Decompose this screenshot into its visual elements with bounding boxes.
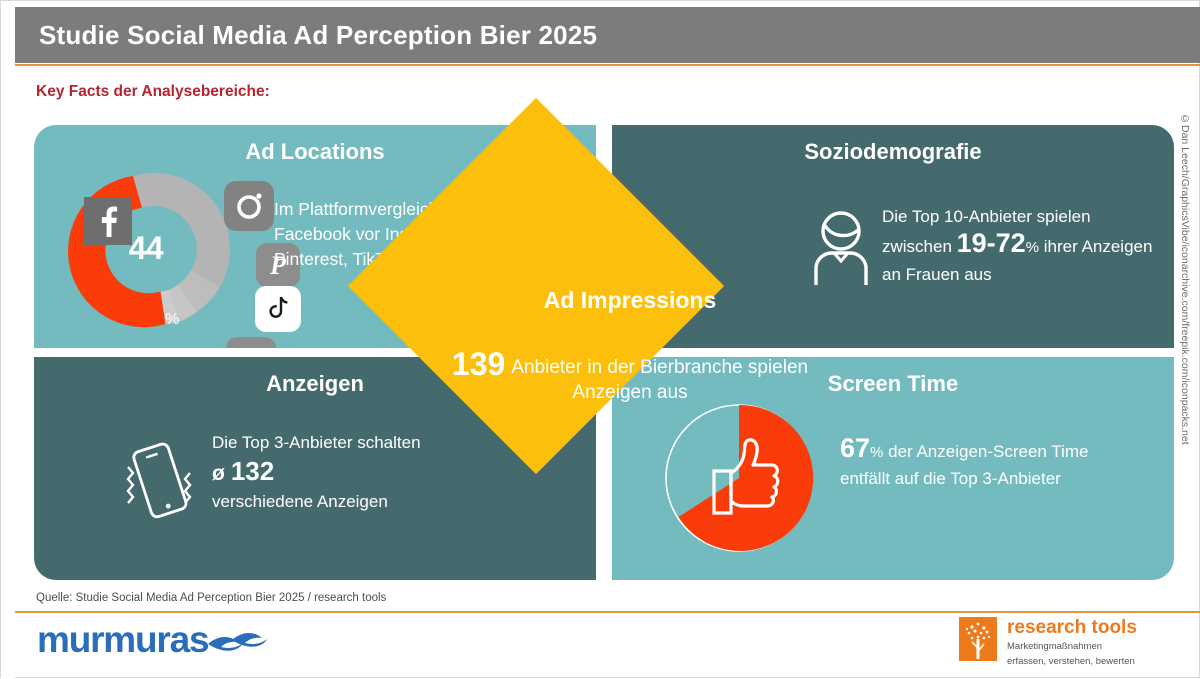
soziodemografie-description: Die Top 10-Anbieter spielen zwischen 19-… xyxy=(882,203,1162,288)
person-icon xyxy=(810,207,872,292)
panel-screen-time[interactable]: Screen Time 67% der Anzeigen-Screen Time… xyxy=(612,357,1174,580)
research-tools-text: research tools Marketingmaßnahmen erfass… xyxy=(1007,617,1137,668)
source-note: Quelle: Studie Social Media Ad Perceptio… xyxy=(36,592,386,604)
murmuras-wordmark: murmuras xyxy=(37,619,208,661)
sozio-highlight: 19-72 xyxy=(957,228,1026,258)
research-tools-tagline-2: erfassen, verstehen, bewerten xyxy=(1007,656,1137,668)
screen-time-unit: % xyxy=(870,444,883,461)
section-subtitle: Key Facts der Analysebereiche: xyxy=(36,83,270,101)
youtube-icon xyxy=(226,337,276,348)
murmuras-birds-icon xyxy=(206,626,276,660)
donut-center-label: 44 % xyxy=(56,161,252,336)
anzeigen-value: 132 xyxy=(231,456,274,486)
anzeigen-average: ø132 xyxy=(212,457,512,488)
panel-soziodemografie[interactable]: Soziodemografie Die Top 10-Anbieter spie… xyxy=(612,125,1174,348)
infographic-page: Studie Social Media Ad Perception Bier 2… xyxy=(0,0,1200,678)
footer-divider xyxy=(15,611,1200,613)
donut-unit: % xyxy=(165,311,179,329)
research-tools-tree-icon xyxy=(959,617,997,661)
vibrating-phone-icon xyxy=(112,435,204,532)
panel-title-soziodemografie: Soziodemografie xyxy=(612,139,1174,165)
panel-grid: Ad Locations 44 xyxy=(34,125,1174,580)
facebook-icon xyxy=(84,197,132,245)
average-symbol: ø xyxy=(212,462,225,485)
instagram-icon xyxy=(224,181,274,231)
screen-time-description: 67% der Anzeigen-Screen Time entfällt au… xyxy=(840,435,1140,492)
page-title: Studie Social Media Ad Perception Bier 2… xyxy=(39,20,597,51)
sozio-unit: % xyxy=(1026,239,1039,256)
left-margin xyxy=(1,1,15,679)
tiktok-icon xyxy=(255,286,301,332)
panel-title-screen-time: Screen Time xyxy=(612,371,1174,397)
image-credit: ©Dan Leech/GraphicsVibe/iconarchive.com/… xyxy=(1179,113,1197,583)
anzeigen-line-1: Die Top 3-Anbieter schalten xyxy=(212,429,512,457)
research-tools-tagline-1: Marketingmaßnahmen xyxy=(1007,641,1137,653)
screen-time-highlight: 67 xyxy=(840,433,870,463)
header-divider xyxy=(15,64,1200,66)
murmuras-logo: murmuras xyxy=(37,619,276,661)
donut-chart: 44 % P xyxy=(56,161,252,336)
thumbs-up-pie-icon xyxy=(662,401,817,556)
research-tools-logo: research tools Marketingmaßnahmen erfass… xyxy=(959,617,1137,668)
header-bar: Studie Social Media Ad Perception Bier 2… xyxy=(15,7,1200,63)
donut-value: 44 xyxy=(129,230,164,267)
anzeigen-line-3: verschiedene Anzeigen xyxy=(212,488,512,516)
research-tools-name: research tools xyxy=(1007,617,1137,638)
anzeigen-description: Die Top 3-Anbieter schalten ø132 verschi… xyxy=(212,429,512,516)
